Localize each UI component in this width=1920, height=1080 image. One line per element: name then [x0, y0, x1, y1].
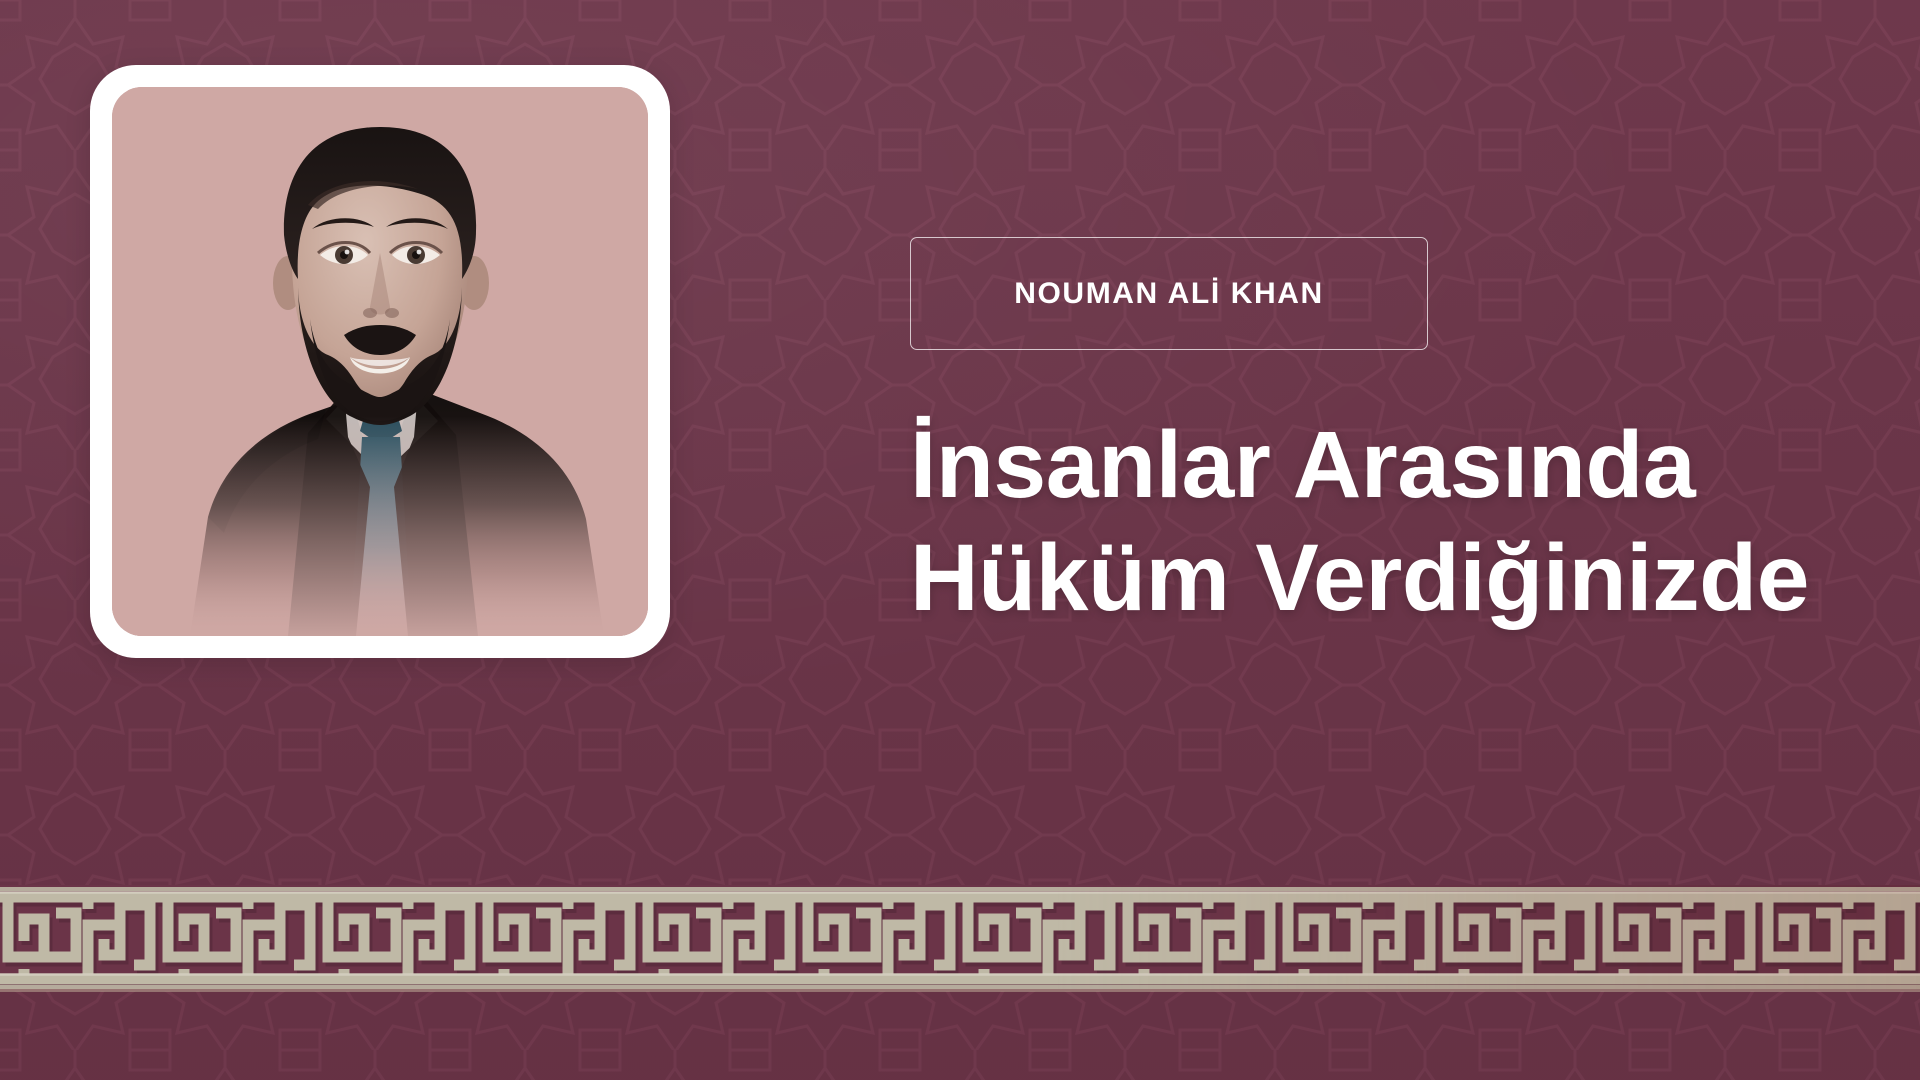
- portrait-photo-icon: [112, 87, 648, 636]
- meander-border-icon: [0, 885, 1920, 991]
- content-column: NOUMAN ALİ KHAN İnsanlar Arasında Hüküm …: [910, 237, 1850, 635]
- page-title: İnsanlar Arasında Hüküm Verdiğinizde: [910, 409, 1850, 635]
- speaker-name-badge: NOUMAN ALİ KHAN: [910, 237, 1428, 350]
- portrait-card: [90, 65, 670, 658]
- speaker-name-label: NOUMAN ALİ KHAN: [1014, 279, 1324, 309]
- slide-canvas: NOUMAN ALİ KHAN İnsanlar Arasında Hüküm …: [0, 0, 1920, 1080]
- title-line-2: Hüküm Verdiğinizde: [910, 522, 1850, 635]
- band-bottom-rule: [0, 989, 1920, 992]
- title-line-1: İnsanlar Arasında: [910, 409, 1850, 522]
